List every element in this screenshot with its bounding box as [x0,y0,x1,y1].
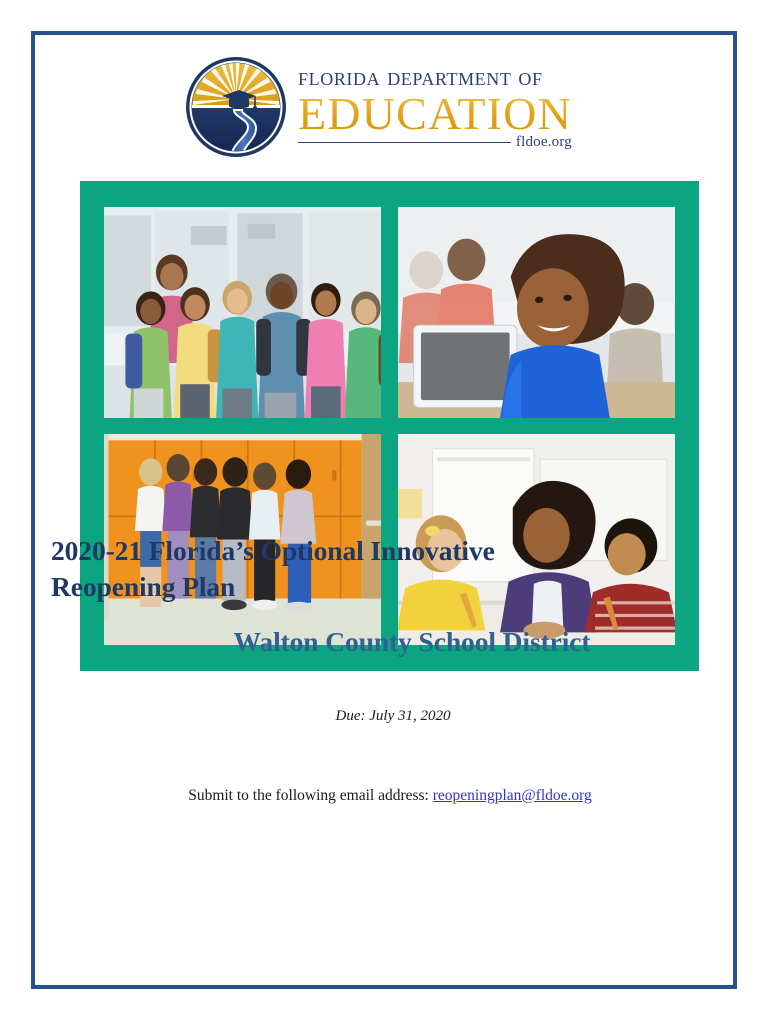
tablet-device [414,325,517,407]
due-date: Due: July 31, 2020 [44,708,742,725]
submit-instructions-text: Submit to the following email address: [188,787,433,804]
wordmark-url: fldoe.org [516,135,572,150]
page-title-line-1: 2020-21 Florida’s Optional Innovative [51,533,666,569]
wordmark-rule-row: fldoe.org [298,135,572,150]
document-page: Florida Department of EDUCATION fldoe.or… [31,31,737,989]
logo-lockup: Florida Department of EDUCATION fldoe.or… [184,55,572,159]
wordmark-line-2: EDUCATION [298,91,572,137]
wordmark-rule [298,142,511,143]
photo-students-hallway [104,207,381,418]
submit-instructions: Submit to the following email address: r… [41,787,739,805]
wordmark-line-1: Florida Department of [298,64,543,90]
page-title-line-2: Reopening Plan [51,569,666,605]
page-content: Florida Department of EDUCATION fldoe.or… [35,35,733,985]
district-name: Walton County School District [63,626,761,658]
page-title: 2020-21 Florida’s Optional Innovative Re… [51,533,666,606]
wordmark: Florida Department of EDUCATION fldoe.or… [298,64,572,150]
fldoe-seal-icon [184,55,288,159]
fldoe-logo: Florida Department of EDUCATION fldoe.or… [35,52,733,162]
photo-student-tablet [398,207,675,418]
submission-email-link[interactable]: reopeningplan@fldoe.org [433,787,592,804]
